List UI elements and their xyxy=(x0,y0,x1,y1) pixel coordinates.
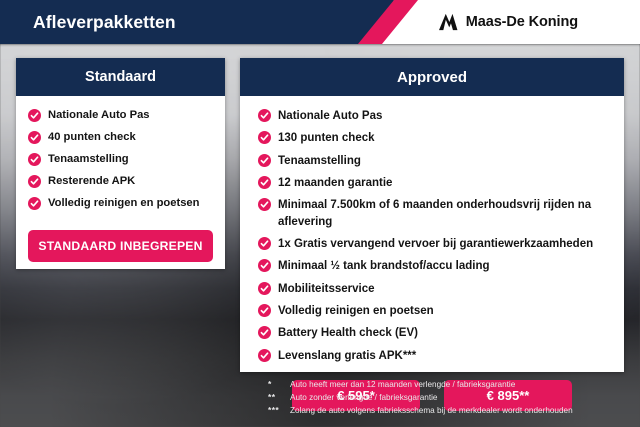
footnote-row: *** Zolang de auto volgens fabrieksschem… xyxy=(268,405,628,416)
package-card-standaard: Standaard Nationale Auto Pas 40 punten c… xyxy=(16,58,225,269)
list-item: Mobiliteitsservice xyxy=(258,281,612,297)
footnote-marker: ** xyxy=(268,392,290,402)
check-circle-icon xyxy=(258,198,271,211)
check-circle-icon xyxy=(258,259,271,272)
check-circle-icon xyxy=(28,109,41,122)
check-circle-icon xyxy=(28,131,41,144)
check-circle-icon xyxy=(258,176,271,189)
feature-label: Volledig reinigen en poetsen xyxy=(48,196,199,212)
feature-label: Tenaamstelling xyxy=(48,152,129,168)
feature-label: Nationale Auto Pas xyxy=(48,108,150,124)
maas-de-koning-m-mark-icon xyxy=(437,13,459,31)
page-title: Afleverpakketten xyxy=(33,0,176,44)
footnote-marker: *** xyxy=(268,405,290,415)
feature-label: Minimaal ½ tank brandstof/accu lading xyxy=(278,258,490,274)
feature-list-standaard: Nationale Auto Pas 40 punten check Tenaa… xyxy=(16,108,225,212)
header-shadow xyxy=(0,44,640,47)
standard-cta-container: STANDAARD INBEGREPEN xyxy=(16,218,225,262)
feature-label: Nationale Auto Pas xyxy=(278,108,382,124)
check-circle-icon xyxy=(258,131,271,144)
list-item: 130 punten check xyxy=(258,130,612,146)
feature-label: Levenslang gratis APK*** xyxy=(278,348,416,364)
footnote-text: Zolang de auto volgens fabrieksschema bi… xyxy=(290,405,573,416)
page-header: Afleverpakketten Maas-De Koning xyxy=(0,0,640,44)
feature-label: Tenaamstelling xyxy=(278,153,361,169)
card-body-approved: Nationale Auto Pas 130 punten check Tena… xyxy=(240,96,624,425)
brand-logo: Maas-De Koning xyxy=(437,0,578,44)
feature-label: Resterende APK xyxy=(48,174,135,190)
footnote-row: ** Auto zonder verlengde / fabrieksgaran… xyxy=(268,392,628,403)
feature-label: Battery Health check (EV) xyxy=(278,325,418,341)
list-item: Levenslang gratis APK*** xyxy=(258,348,612,364)
list-item: 12 maanden garantie xyxy=(258,175,612,191)
list-item: Nationale Auto Pas xyxy=(28,108,215,124)
footnotes: * Auto heeft meer dan 12 maanden verleng… xyxy=(268,379,628,418)
feature-label: 40 punten check xyxy=(48,130,136,146)
card-title-standaard: Standaard xyxy=(16,58,225,96)
check-circle-icon xyxy=(28,153,41,166)
feature-label: Volledig reinigen en poetsen xyxy=(278,303,434,319)
list-item: Nationale Auto Pas xyxy=(258,108,612,124)
list-item: Tenaamstelling xyxy=(258,153,612,169)
list-item: Volledig reinigen en poetsen xyxy=(28,196,215,212)
list-item: 1x Gratis vervangend vervoer bij garanti… xyxy=(258,236,612,252)
list-item: Volledig reinigen en poetsen xyxy=(258,303,612,319)
feature-label: 1x Gratis vervangend vervoer bij garanti… xyxy=(278,236,593,252)
footnote-text: Auto zonder verlengde / fabrieksgarantie xyxy=(290,392,437,403)
list-item: Resterende APK xyxy=(28,174,215,190)
feature-label: 130 punten check xyxy=(278,130,375,146)
check-circle-icon xyxy=(258,282,271,295)
card-body-standaard: Nationale Auto Pas 40 punten check Tenaa… xyxy=(16,96,225,262)
check-circle-icon xyxy=(258,326,271,339)
list-item: 40 punten check xyxy=(28,130,215,146)
list-item: Minimaal ½ tank brandstof/accu lading xyxy=(258,258,612,274)
standaard-inbegrepen-button[interactable]: STANDAARD INBEGREPEN xyxy=(28,230,213,262)
footnote-row: * Auto heeft meer dan 12 maanden verleng… xyxy=(268,379,628,390)
list-item: Tenaamstelling xyxy=(28,152,215,168)
check-circle-icon xyxy=(28,175,41,188)
feature-label: Minimaal 7.500km of 6 maanden onderhouds… xyxy=(278,197,612,230)
feature-label: Mobiliteitsservice xyxy=(278,281,375,297)
check-circle-icon xyxy=(258,304,271,317)
list-item: Minimaal 7.500km of 6 maanden onderhouds… xyxy=(258,197,612,230)
check-circle-icon xyxy=(258,237,271,250)
page-root: Afleverpakketten Maas-De Koning Standaar… xyxy=(0,0,640,427)
feature-label: 12 maanden garantie xyxy=(278,175,392,191)
check-circle-icon xyxy=(258,349,271,362)
check-circle-icon xyxy=(28,197,41,210)
footnote-marker: * xyxy=(268,379,290,389)
footnote-text: Auto heeft meer dan 12 maanden verlengde… xyxy=(290,379,515,390)
check-circle-icon xyxy=(258,154,271,167)
list-item: Battery Health check (EV) xyxy=(258,325,612,341)
package-card-approved: Approved Nationale Auto Pas 130 punten c… xyxy=(240,58,624,372)
brand-name: Maas-De Koning xyxy=(466,14,578,30)
card-title-approved: Approved xyxy=(240,58,624,96)
check-circle-icon xyxy=(258,109,271,122)
feature-list-approved: Nationale Auto Pas 130 punten check Tena… xyxy=(240,108,624,364)
